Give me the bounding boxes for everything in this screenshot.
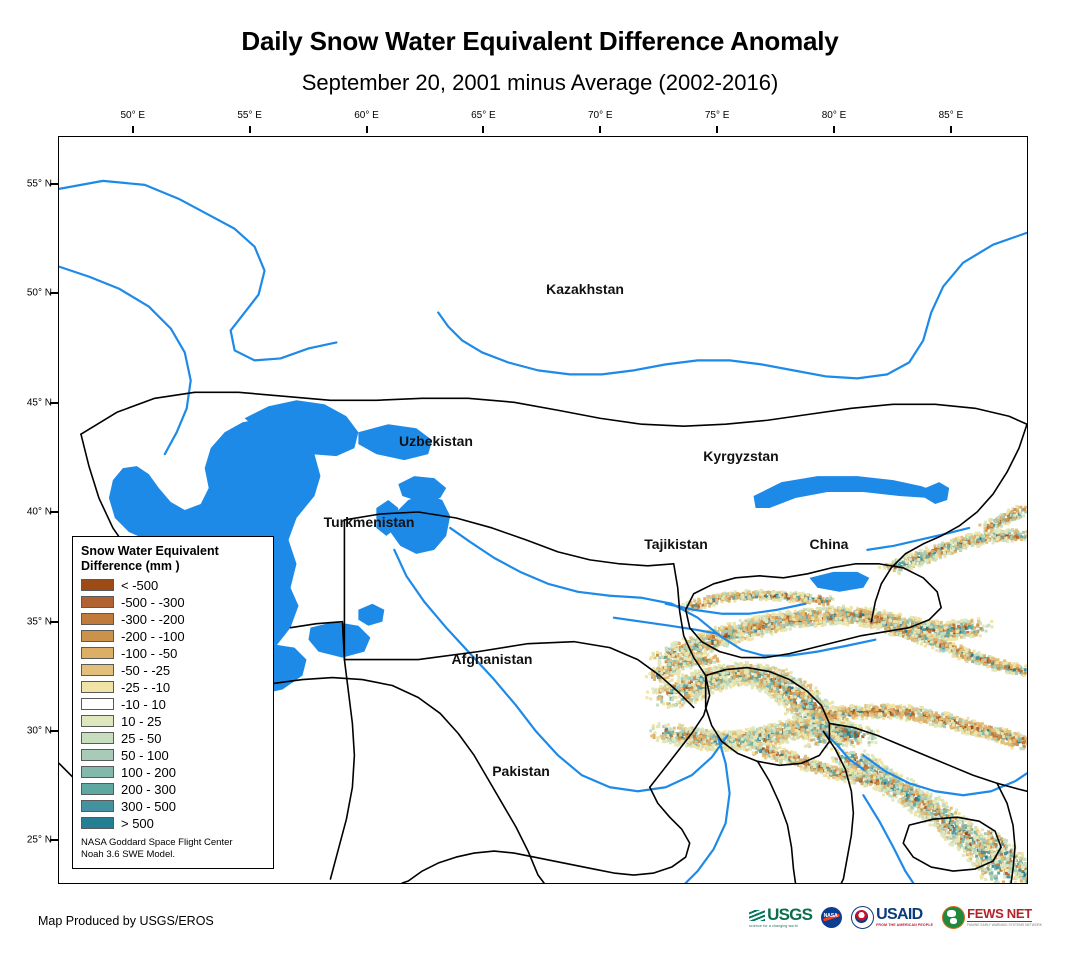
swe-cell xyxy=(782,702,785,705)
swe-cell xyxy=(958,544,961,547)
swe-cell xyxy=(737,629,740,632)
swe-cell xyxy=(1022,531,1025,534)
swe-cell xyxy=(970,540,973,543)
swe-cell xyxy=(781,614,784,617)
swe-cell xyxy=(742,594,745,597)
swe-cell xyxy=(726,671,729,674)
swe-cell xyxy=(772,619,775,622)
swe-cell xyxy=(709,599,712,602)
swe-cell xyxy=(685,728,688,731)
swe-cell xyxy=(976,545,979,548)
swe-cell xyxy=(937,551,940,554)
swe-cell xyxy=(736,633,739,636)
swe-cell xyxy=(934,547,937,550)
swe-cell xyxy=(789,592,792,595)
swe-cell xyxy=(770,696,773,699)
swe-cell xyxy=(813,702,816,705)
swe-cell xyxy=(778,703,781,706)
swe-cell xyxy=(715,595,718,598)
swe-cell xyxy=(687,652,690,655)
swe-cell xyxy=(957,536,960,539)
swe-cell xyxy=(938,543,941,546)
swe-cell xyxy=(656,739,659,742)
lon-tick-mark xyxy=(482,126,484,133)
lon-tick-mark xyxy=(132,126,134,133)
swe-cell xyxy=(680,684,683,687)
swe-cell xyxy=(681,739,684,742)
swe-cell xyxy=(661,690,664,693)
swe-cell xyxy=(664,724,667,727)
swe-cell xyxy=(712,595,715,598)
swe-cell xyxy=(806,705,809,708)
swe-cell xyxy=(679,705,682,708)
swe-cell xyxy=(791,614,794,617)
swe-cell xyxy=(990,620,993,623)
swe-cell xyxy=(766,688,769,691)
swe-cell xyxy=(974,633,977,636)
swe-cell xyxy=(967,620,970,623)
swe-cell xyxy=(688,677,691,680)
lat-tick-label: 50° N xyxy=(16,288,52,299)
swe-cell xyxy=(785,620,788,623)
swe-cell xyxy=(907,624,910,627)
swe-cell xyxy=(688,684,691,687)
swe-cell xyxy=(763,685,766,688)
swe-cell xyxy=(791,709,794,712)
swe-cell xyxy=(656,651,659,654)
swe-cell xyxy=(855,611,858,614)
swe-cell xyxy=(930,558,933,561)
swe-cell xyxy=(917,552,920,555)
swe-cell xyxy=(960,536,963,539)
lat-tick-mark xyxy=(50,839,58,841)
swe-cell xyxy=(779,682,782,685)
swe-cell xyxy=(662,702,665,705)
swe-cell xyxy=(955,621,958,624)
swe-cell xyxy=(985,625,988,628)
swe-cell xyxy=(809,684,812,687)
swe-cell xyxy=(957,625,960,628)
swe-cell xyxy=(677,679,680,682)
swe-cell xyxy=(864,611,867,614)
swe-cell xyxy=(795,692,798,695)
swe-cell xyxy=(970,619,973,622)
swe-cell xyxy=(772,616,775,619)
swe-cell xyxy=(809,612,812,615)
swe-cell xyxy=(936,622,939,625)
swe-cell xyxy=(1023,536,1026,539)
swe-cell xyxy=(961,619,964,622)
swe-cell xyxy=(758,675,761,678)
swe-cell xyxy=(931,550,934,553)
lon-tick-label: 70° E xyxy=(588,110,613,121)
swe-cell xyxy=(795,709,798,712)
swe-cell xyxy=(963,631,966,634)
swe-cell xyxy=(947,638,950,641)
swe-cell xyxy=(712,744,715,747)
swe-cell xyxy=(789,621,792,624)
swe-cell xyxy=(709,596,712,599)
swe-cell xyxy=(754,674,757,677)
swe-cell xyxy=(804,703,807,706)
swe-cell xyxy=(661,656,664,659)
swe-cell xyxy=(793,595,796,598)
swe-cell xyxy=(950,541,953,544)
swe-cell xyxy=(798,704,801,707)
swe-cell xyxy=(910,567,913,570)
swe-cell xyxy=(693,647,696,650)
swe-cell xyxy=(944,548,947,551)
swe-cell xyxy=(814,614,817,617)
swe-cell xyxy=(814,597,817,600)
swe-cell xyxy=(954,542,957,545)
swe-cell xyxy=(652,691,655,694)
swe-cell xyxy=(714,626,717,629)
swe-cell xyxy=(760,620,763,623)
lat-tick-mark xyxy=(50,402,58,404)
swe-cell xyxy=(793,695,796,698)
swe-cell xyxy=(770,633,773,636)
swe-cell xyxy=(794,610,797,613)
swe-cell xyxy=(721,597,724,600)
swe-cell xyxy=(649,697,652,700)
swe-cell xyxy=(772,598,775,601)
swe-cell xyxy=(685,675,688,678)
swe-cell xyxy=(836,621,839,624)
swe-cell xyxy=(676,700,679,703)
swe-cell xyxy=(659,696,662,699)
swe-cell xyxy=(776,624,779,627)
swe-cell xyxy=(781,698,784,701)
swe-cell xyxy=(685,679,688,682)
swe-cell xyxy=(893,569,896,572)
swe-cell xyxy=(975,532,978,535)
swe-cell xyxy=(793,625,796,628)
swe-cell xyxy=(835,617,838,620)
swe-cell xyxy=(741,682,744,685)
swe-cell xyxy=(671,645,674,648)
swe-cell xyxy=(721,675,724,678)
swe-cell xyxy=(706,647,709,650)
swe-cell xyxy=(735,665,738,668)
swe-cell xyxy=(780,691,783,694)
swe-cell xyxy=(788,612,791,615)
swe-cell xyxy=(940,626,943,629)
swe-cell xyxy=(655,688,658,691)
swe-cell xyxy=(822,603,825,606)
swe-cell xyxy=(831,611,834,614)
swe-cell xyxy=(659,652,662,655)
swe-cell xyxy=(668,655,671,658)
swe-cell xyxy=(878,566,881,569)
lon-tick-label: 50° E xyxy=(120,110,145,121)
swe-cell xyxy=(826,613,829,616)
swe-cell xyxy=(670,731,673,734)
swe-cell xyxy=(652,724,655,727)
swe-cell xyxy=(1026,530,1027,533)
swe-cell xyxy=(738,624,741,627)
swe-cell xyxy=(785,622,788,625)
swe-cell xyxy=(695,681,698,684)
swe-cell xyxy=(716,674,719,677)
swe-cell xyxy=(844,619,847,622)
swe-cell xyxy=(823,600,826,603)
swe-cell xyxy=(810,739,813,742)
swe-cell xyxy=(829,621,832,624)
swe-cell xyxy=(668,648,671,651)
page-subtitle: September 20, 2001 minus Average (2002-2… xyxy=(0,70,1080,96)
swe-cell xyxy=(966,544,969,547)
swe-cell xyxy=(946,621,949,624)
swe-cell xyxy=(812,599,815,602)
swe-cell xyxy=(778,671,781,674)
swe-cell xyxy=(731,592,734,595)
swe-cell xyxy=(849,609,852,612)
swe-cell xyxy=(834,609,837,612)
swe-cell xyxy=(820,624,823,627)
swe-cell xyxy=(779,599,782,602)
swe-cell xyxy=(781,683,784,686)
swe-cell xyxy=(746,670,749,673)
swe-cell xyxy=(782,621,785,624)
swe-cell xyxy=(710,733,713,736)
swe-cell xyxy=(706,749,709,752)
swe-cell xyxy=(782,688,785,691)
swe-cell xyxy=(1011,540,1014,543)
swe-cell xyxy=(905,561,908,564)
swe-cell xyxy=(814,693,817,696)
swe-cell xyxy=(790,696,793,699)
swe-cell xyxy=(831,621,834,624)
swe-cell xyxy=(868,611,871,614)
swe-cell xyxy=(733,639,736,642)
swe-cell xyxy=(764,675,767,678)
swe-cell xyxy=(803,681,806,684)
swe-cell xyxy=(747,635,750,638)
swe-cell xyxy=(970,626,973,629)
swe-cell xyxy=(940,621,943,624)
swe-cell xyxy=(912,616,915,619)
swe-anomaly-raster xyxy=(645,505,1027,883)
swe-cell xyxy=(718,595,721,598)
swe-cell xyxy=(738,634,741,637)
swe-cell xyxy=(739,677,742,680)
swe-cell xyxy=(799,610,802,613)
swe-cell xyxy=(817,599,820,602)
swe-cell xyxy=(757,688,760,691)
swe-cell xyxy=(770,675,773,678)
swe-cell xyxy=(979,622,982,625)
lon-tick-label: 55° E xyxy=(237,110,262,121)
swe-cell xyxy=(748,625,751,628)
swe-cell xyxy=(971,535,974,538)
swe-cell xyxy=(826,703,829,706)
swe-cell xyxy=(674,641,677,644)
swe-cell xyxy=(700,678,703,681)
swe-cell xyxy=(836,614,839,617)
swe-cell xyxy=(707,732,710,735)
swe-cell xyxy=(792,599,795,602)
swe-cell xyxy=(751,637,754,640)
swe-cell xyxy=(693,672,696,675)
swe-cell xyxy=(693,745,696,748)
lat-tick-mark xyxy=(50,183,58,185)
swe-cell xyxy=(950,632,953,635)
swe-cell xyxy=(677,686,680,689)
swe-cell xyxy=(666,734,669,737)
swe-cell xyxy=(665,648,668,651)
swe-cell xyxy=(675,652,678,655)
swe-cell xyxy=(878,614,881,617)
swe-cell xyxy=(703,740,706,743)
swe-cell xyxy=(831,701,834,704)
swe-cell xyxy=(952,638,955,641)
swe-cell xyxy=(801,711,804,714)
swe-cell xyxy=(688,691,691,694)
swe-cell xyxy=(772,613,775,616)
swe-cell xyxy=(865,615,868,618)
swe-cell xyxy=(894,617,897,620)
swe-cell xyxy=(809,599,812,602)
swe-cell xyxy=(708,667,711,670)
swe-cell xyxy=(920,549,923,552)
lon-tick-label: 60° E xyxy=(354,110,379,121)
swe-cell xyxy=(891,614,894,617)
swe-cell xyxy=(865,619,868,622)
swe-cell xyxy=(772,690,775,693)
swe-cell xyxy=(651,688,654,691)
swe-cell xyxy=(808,618,811,621)
swe-cell xyxy=(771,625,774,628)
swe-cell xyxy=(659,685,662,688)
swe-cell xyxy=(845,622,848,625)
swe-cell xyxy=(796,618,799,621)
swe-cell xyxy=(776,626,779,629)
swe-cell xyxy=(774,698,777,701)
swe-cell xyxy=(856,618,859,621)
swe-cell xyxy=(708,743,711,746)
swe-cell xyxy=(808,699,811,702)
swe-cell xyxy=(787,683,790,686)
swe-cell xyxy=(781,590,784,593)
swe-cell xyxy=(802,684,805,687)
swe-cell xyxy=(672,696,675,699)
lon-tick-mark xyxy=(366,126,368,133)
swe-cell xyxy=(694,741,697,744)
swe-cell xyxy=(961,628,964,631)
swe-cell xyxy=(859,611,862,614)
swe-cell xyxy=(818,615,821,618)
swe-cell xyxy=(795,598,798,601)
swe-cell xyxy=(908,619,911,622)
swe-cell xyxy=(883,567,886,570)
swe-cell xyxy=(704,604,707,607)
swe-cell xyxy=(814,742,817,745)
swe-cell xyxy=(993,535,996,538)
swe-cell xyxy=(657,725,660,728)
swe-cell xyxy=(725,597,728,600)
swe-cell xyxy=(923,553,926,556)
swe-cell xyxy=(725,678,728,681)
swe-cell xyxy=(801,593,804,596)
swe-cell xyxy=(822,597,825,600)
swe-cell xyxy=(701,730,704,733)
swe-cell xyxy=(977,617,980,620)
swe-cell xyxy=(782,624,785,627)
swe-cell xyxy=(715,682,718,685)
swe-cell xyxy=(979,627,982,630)
swe-cell xyxy=(1015,529,1018,532)
swe-cell xyxy=(728,625,731,628)
swe-cell xyxy=(744,628,747,631)
swe-cell xyxy=(947,552,950,555)
swe-cell xyxy=(789,692,792,695)
swe-cell xyxy=(818,698,821,701)
swe-cell xyxy=(982,538,985,541)
swe-cell xyxy=(699,689,702,692)
swe-cell xyxy=(693,735,696,738)
swe-cell xyxy=(763,631,766,634)
swe-cell xyxy=(860,623,863,626)
page-title: Daily Snow Water Equivalent Difference A… xyxy=(0,26,1080,57)
swe-cell xyxy=(673,727,676,730)
swe-cell xyxy=(892,560,895,563)
swe-cell xyxy=(870,608,873,611)
swe-cell xyxy=(712,679,715,682)
lon-tick-label: 80° E xyxy=(822,110,847,121)
swe-cell xyxy=(683,646,686,649)
swe-cell xyxy=(899,621,902,624)
swe-cell xyxy=(987,539,990,542)
swe-cell xyxy=(823,739,826,742)
swe-cell xyxy=(736,596,739,599)
swe-cell xyxy=(955,637,958,640)
swe-cell xyxy=(698,747,701,750)
lon-tick-mark xyxy=(599,126,601,133)
swe-cell xyxy=(845,608,848,611)
swe-cell xyxy=(741,672,744,675)
swe-cell xyxy=(775,599,778,602)
swe-cell xyxy=(782,669,785,672)
swe-cell xyxy=(651,652,654,655)
swe-cell xyxy=(700,607,703,610)
swe-cell xyxy=(658,722,661,725)
swe-cell xyxy=(970,631,973,634)
swe-cell xyxy=(863,625,866,628)
lat-tick-label: 40° N xyxy=(16,507,52,518)
swe-cell xyxy=(946,634,949,637)
lat-tick-mark xyxy=(50,621,58,623)
swe-cell xyxy=(712,604,715,607)
swe-cell xyxy=(784,615,787,618)
swe-cell xyxy=(904,619,907,622)
swe-cell xyxy=(813,707,816,710)
swe-cell xyxy=(722,664,725,667)
swe-cell xyxy=(679,654,682,657)
swe-cell xyxy=(943,551,946,554)
swe-cell xyxy=(736,592,739,595)
swe-cell xyxy=(883,615,886,618)
swe-cell xyxy=(799,616,802,619)
lat-tick-label: 30° N xyxy=(16,725,52,736)
swe-cell xyxy=(979,543,982,546)
swe-cell xyxy=(705,745,708,748)
swe-cell xyxy=(810,623,813,626)
swe-cell xyxy=(674,732,677,735)
swe-cell xyxy=(925,546,928,549)
swe-cell xyxy=(786,710,789,713)
swe-cell xyxy=(741,633,744,636)
